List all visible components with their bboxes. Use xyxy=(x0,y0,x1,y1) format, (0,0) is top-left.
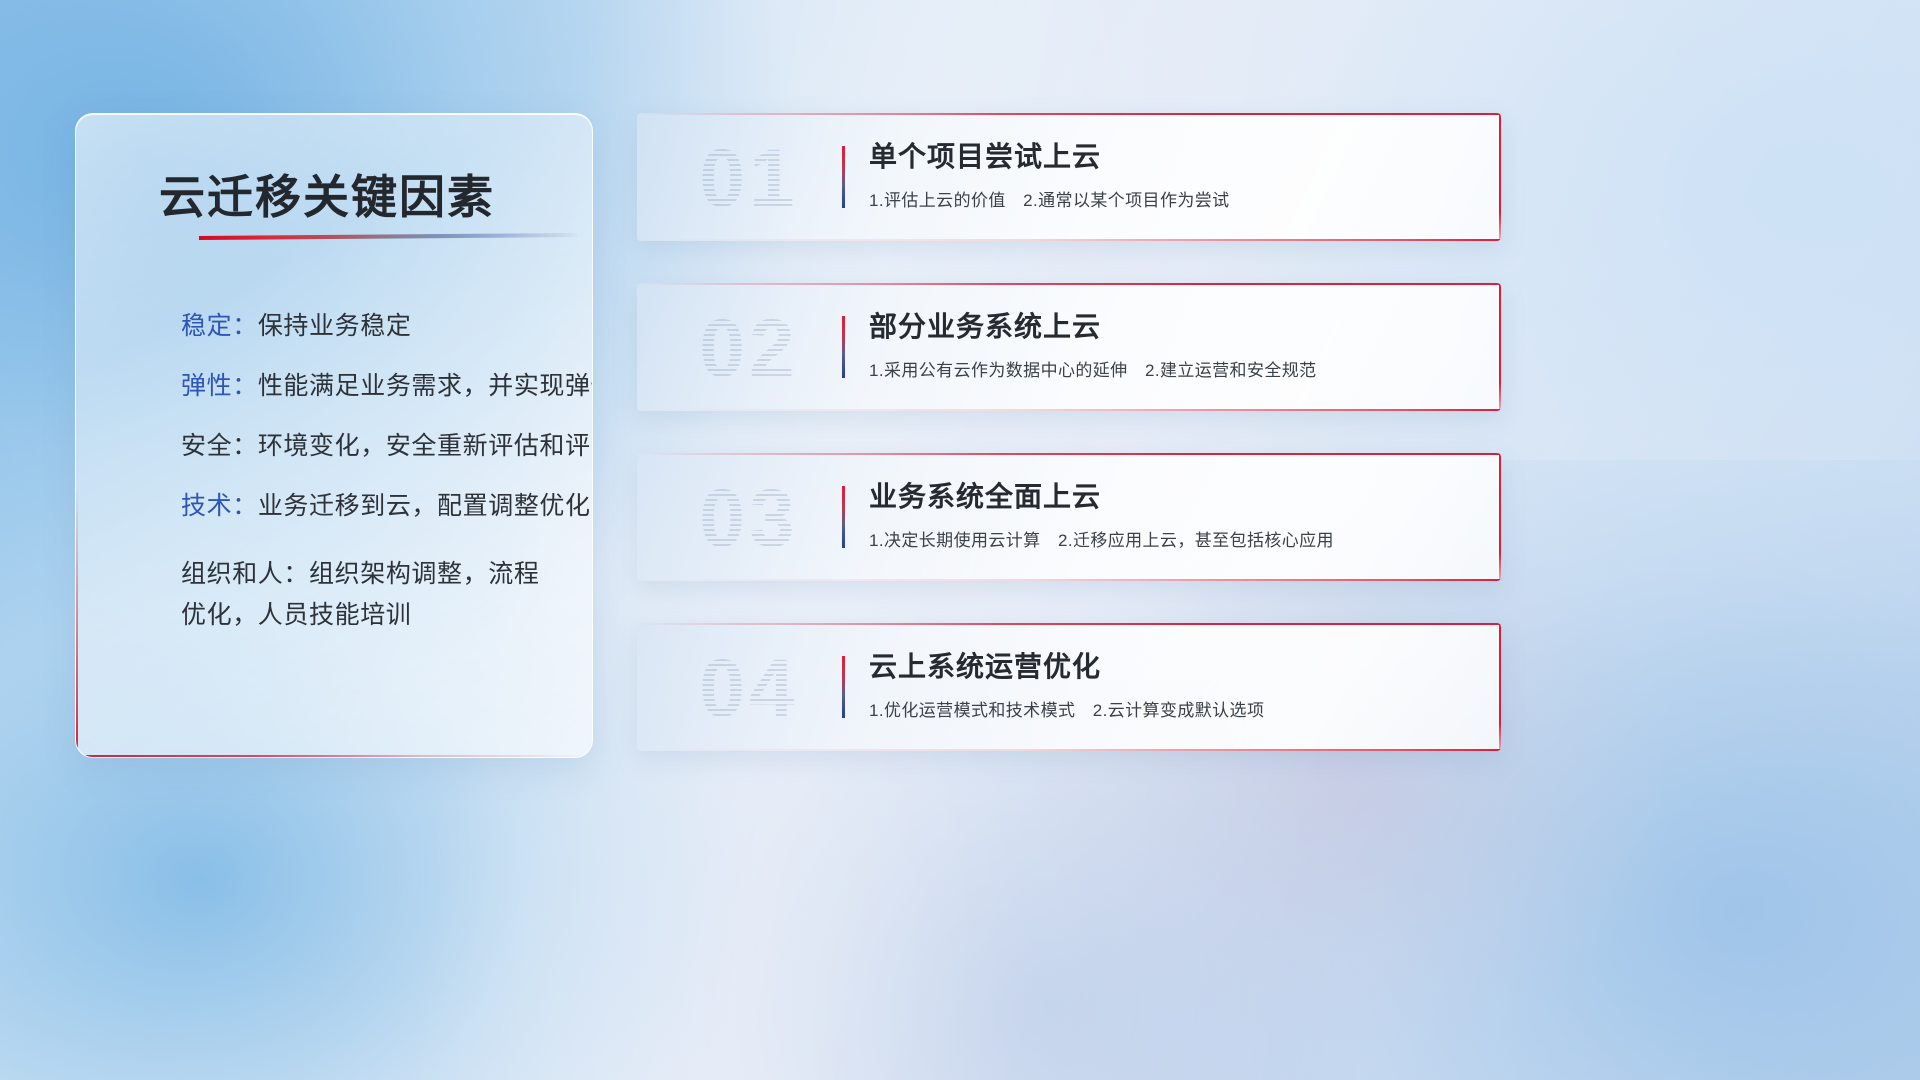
factor-label: 安全： xyxy=(181,432,258,460)
card-title: 单个项目尝试上云 xyxy=(869,139,1471,174)
card-top-accent xyxy=(637,113,1501,115)
step-card[interactable]: 02 部分业务系统上云 1.采用公有云作为数据中心的延伸 2.建立运营和安全规范 xyxy=(637,283,1501,411)
step-card[interactable]: 01 单个项目尝试上云 1.评估上云的价值 2.通常以某个项目作为尝试 xyxy=(637,113,1501,241)
card-text-block: 云上系统运营优化 1.优化运营模式和技术模式 2.云计算变成默认选项 xyxy=(869,649,1471,721)
card-title: 部分业务系统上云 xyxy=(869,309,1471,344)
migration-steps-list: 01 单个项目尝试上云 1.评估上云的价值 2.通常以某个项目作为尝试 02 部… xyxy=(637,113,1501,793)
step-card[interactable]: 04 云上系统运营优化 1.优化运营模式和技术模式 2.云计算变成默认选项 xyxy=(637,623,1501,751)
card-top-accent xyxy=(637,623,1501,625)
card-right-accent xyxy=(1499,113,1501,241)
card-text-block: 单个项目尝试上云 1.评估上云的价值 2.通常以某个项目作为尝试 xyxy=(869,139,1471,211)
card-bottom-accent xyxy=(637,749,1501,751)
card-right-accent xyxy=(1499,283,1501,411)
panel-left-accent xyxy=(76,487,78,757)
list-item: 弹性：性能满足业务需求，并实现弹性 xyxy=(181,374,552,399)
list-item: 组织和人：组织架构调整，流程优化，人员技能培训 xyxy=(181,554,552,635)
page-title: 云迁移关键因素 xyxy=(159,161,495,227)
factor-text: 性能满足业务需求，并实现弹性 xyxy=(258,372,593,400)
card-bottom-accent xyxy=(637,409,1501,411)
card-description: 1.优化运营模式和技术模式 2.云计算变成默认选项 xyxy=(869,696,1471,721)
step-number-watermark: 04 xyxy=(663,639,835,739)
card-accent-bar xyxy=(842,486,845,548)
card-top-accent xyxy=(637,453,1501,455)
card-right-accent xyxy=(1499,623,1501,751)
card-accent-bar xyxy=(842,316,845,378)
key-factors-list: 稳定：保持业务稳定 弹性：性能满足业务需求，并实现弹性 安全：环境变化，安全重新… xyxy=(181,314,552,670)
card-accent-bar xyxy=(842,656,845,718)
card-description: 1.评估上云的价值 2.通常以某个项目作为尝试 xyxy=(869,186,1471,211)
list-item: 稳定：保持业务稳定 xyxy=(181,314,552,339)
factor-text: 环境变化，安全重新评估和评审 xyxy=(258,432,593,460)
list-item: 技术：业务迁移到云，配置调整优化 xyxy=(181,494,552,519)
card-bottom-accent xyxy=(637,239,1501,241)
card-text-block: 部分业务系统上云 1.采用公有云作为数据中心的延伸 2.建立运营和安全规范 xyxy=(869,309,1471,381)
card-right-accent xyxy=(1499,453,1501,581)
step-card[interactable]: 03 业务系统全面上云 1.决定长期使用云计算 2.迁移应用上云，甚至包括核心应… xyxy=(637,453,1501,581)
factor-label: 弹性： xyxy=(181,372,258,400)
card-text-block: 业务系统全面上云 1.决定长期使用云计算 2.迁移应用上云，甚至包括核心应用 xyxy=(869,479,1471,551)
factor-label: 组织和人： xyxy=(181,560,309,588)
card-description: 1.采用公有云作为数据中心的延伸 2.建立运营和安全规范 xyxy=(869,356,1471,381)
card-accent-bar xyxy=(842,146,845,208)
card-top-accent xyxy=(637,283,1501,285)
key-factors-panel: 云迁移关键因素 稳定：保持业务稳定 弹性：性能满足业务需求，并实现弹性 安全：环… xyxy=(75,113,593,758)
card-description: 1.决定长期使用云计算 2.迁移应用上云，甚至包括核心应用 xyxy=(869,526,1471,551)
factor-label: 稳定： xyxy=(181,312,258,340)
panel-bottom-accent xyxy=(76,755,592,757)
card-title: 云上系统运营优化 xyxy=(869,649,1471,684)
factor-text: 业务迁移到云，配置调整优化 xyxy=(258,492,591,520)
card-bottom-accent xyxy=(637,579,1501,581)
list-item: 安全：环境变化，安全重新评估和评审 xyxy=(181,434,552,459)
step-number-watermark: 03 xyxy=(663,469,835,569)
step-number-watermark: 01 xyxy=(663,129,835,229)
factor-label: 技术： xyxy=(181,492,258,520)
card-title: 业务系统全面上云 xyxy=(869,479,1471,514)
step-number-watermark: 02 xyxy=(663,299,835,399)
title-underline-gradient xyxy=(199,233,577,240)
factor-text: 保持业务稳定 xyxy=(258,312,412,340)
